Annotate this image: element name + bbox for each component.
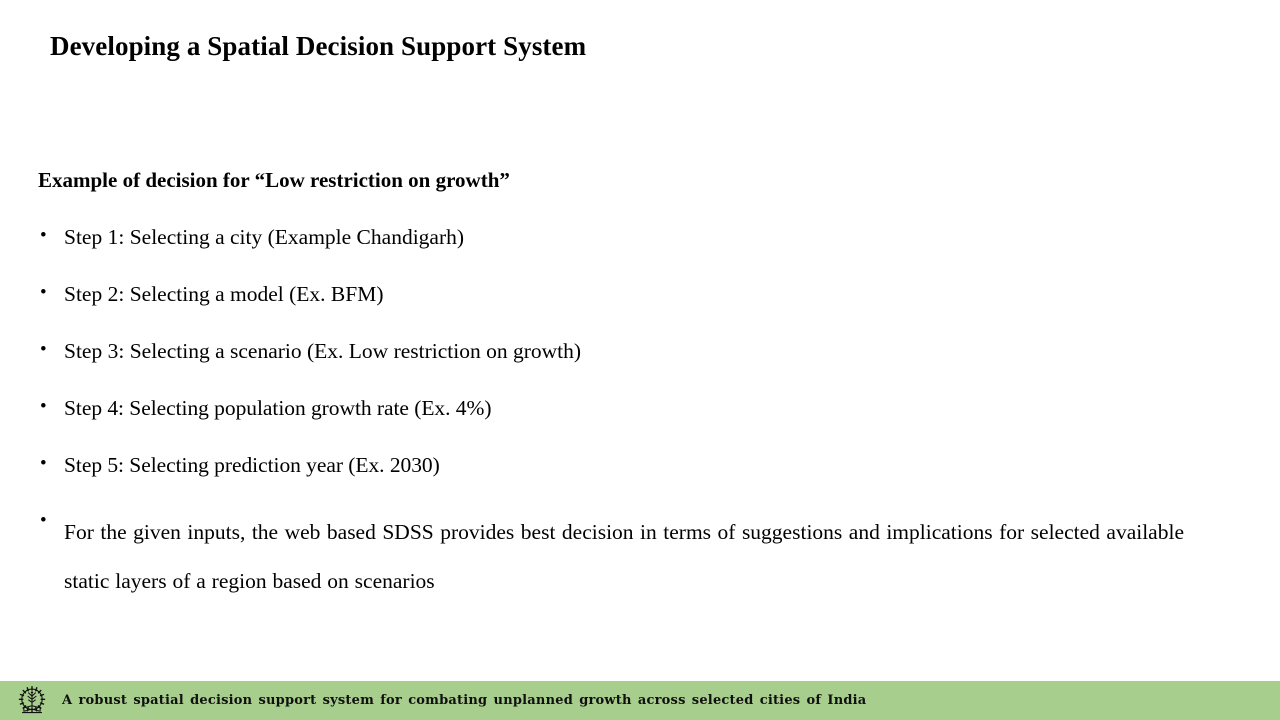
list-item: • Step 4: Selecting population growth ra…: [38, 394, 1168, 423]
list-item: • Step 1: Selecting a city (Example Chan…: [38, 223, 1168, 252]
bullet-dot-icon: •: [40, 394, 47, 420]
list-item: • Step 2: Selecting a model (Ex. BFM): [38, 280, 1168, 309]
list-item-text: Step 5: Selecting prediction year (Ex. 2…: [64, 451, 1168, 480]
list-item: • Step 3: Selecting a scenario (Ex. Low …: [38, 337, 1168, 366]
bullet-dot-icon: •: [40, 223, 47, 249]
bullet-dot-icon: •: [40, 451, 47, 477]
list-item: • For the given inputs, the web based SD…: [38, 508, 1168, 605]
bullet-dot-icon: •: [40, 508, 47, 534]
list-item-text: Step 3: Selecting a scenario (Ex. Low re…: [64, 337, 1168, 366]
bullet-list: • Step 1: Selecting a city (Example Chan…: [38, 223, 1168, 605]
footer-bar: A robust spatial decision support system…: [0, 681, 1280, 720]
slide-title: Developing a Spatial Decision Support Sy…: [50, 30, 1150, 62]
subheading: Example of decision for “Low restriction…: [38, 168, 1168, 193]
bullet-dot-icon: •: [40, 280, 47, 306]
footer-tagline: A robust spatial decision support system…: [62, 694, 866, 707]
slide-body: Example of decision for “Low restriction…: [38, 168, 1168, 605]
bullet-dot-icon: •: [40, 337, 47, 363]
list-item-text: Step 1: Selecting a city (Example Chandi…: [64, 223, 1168, 252]
iit-emblem-logo-icon: [15, 684, 49, 718]
list-item-text: Step 2: Selecting a model (Ex. BFM): [64, 280, 1168, 309]
presentation-slide: Developing a Spatial Decision Support Sy…: [0, 0, 1280, 720]
list-item-text: For the given inputs, the web based SDSS…: [64, 508, 1184, 605]
list-item-text: Step 4: Selecting population growth rate…: [64, 394, 1168, 423]
list-item: • Step 5: Selecting prediction year (Ex.…: [38, 451, 1168, 480]
